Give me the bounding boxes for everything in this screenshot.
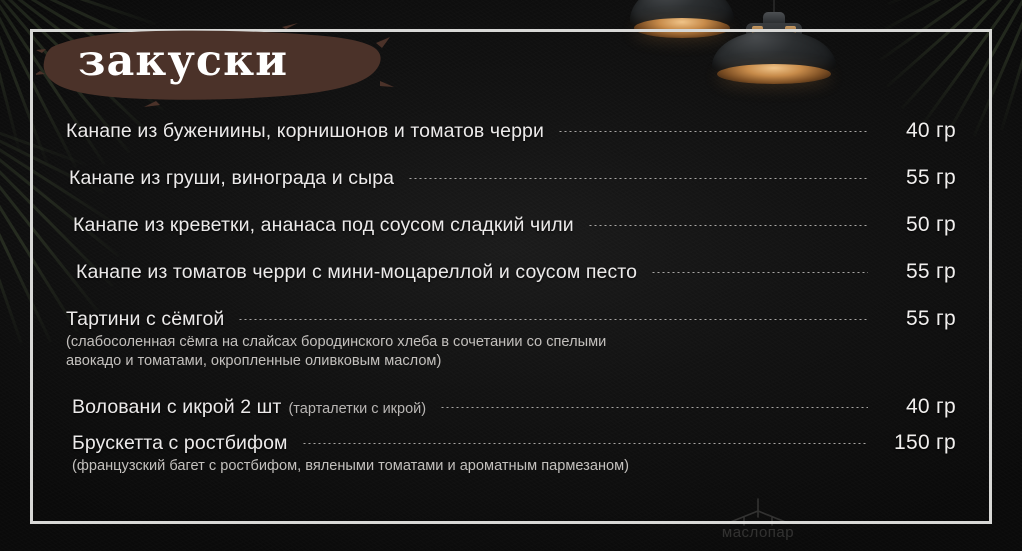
- description-line: (слабосоленная сёмга на слайсах бородинс…: [66, 333, 866, 352]
- menu-item-weight: 55 гр: [880, 307, 956, 331]
- menu-item-weight: 40 гр: [880, 395, 956, 419]
- description-line: (французский багет с ростбифом, вялеными…: [72, 457, 872, 476]
- menu-item-row: Канапе из груши, винограда и сыра 55 гр: [69, 166, 956, 190]
- menu-item-name: Тартини с сёмгой: [66, 308, 224, 331]
- menu-item-description: (слабосоленная сёмга на слайсах бородинс…: [66, 333, 866, 371]
- dotted-leader: [238, 319, 868, 320]
- menu-item: Тартини с сёмгой 55 гр (слабосоленная сё…: [66, 307, 956, 371]
- page-title-block: закуски: [36, 19, 396, 111]
- menu-page: закуски Канапе из бужениины, корнишонов …: [0, 0, 1022, 551]
- dotted-leader: [302, 443, 868, 444]
- menu-item-name: Канапе из груши, винограда и сыра: [69, 167, 394, 190]
- menu-item-name: Воловани с икрой 2 шт: [72, 396, 281, 419]
- menu-item-weight: 55 гр: [880, 260, 956, 284]
- menu-item-row: Воловани с икрой 2 шт (тарталетки с икро…: [72, 395, 956, 419]
- menu-item-name: Брускетта с ростбифом: [72, 432, 288, 455]
- lamp-rim: [717, 64, 831, 84]
- menu-item-weight: 150 гр: [880, 431, 956, 455]
- menu-item: Брускетта с ростбифом 150 гр (французски…: [66, 431, 956, 476]
- menu-item-weight: 55 гр: [880, 166, 956, 190]
- menu-item-row: Тартини с сёмгой 55 гр: [66, 307, 956, 331]
- menu-item-weight: 40 гр: [880, 119, 956, 143]
- pendant-lamp-icon: [712, 12, 836, 108]
- menu-item-row: Канапе из креветки, ананаса под соусом с…: [73, 213, 956, 237]
- dotted-leader: [440, 407, 868, 408]
- menu-item-name: Канапе из бужениины, корнишонов и томато…: [66, 120, 544, 143]
- menu-item: Канапе из груши, винограда и сыра 55 гр: [66, 166, 956, 190]
- dotted-leader: [408, 178, 868, 179]
- dotted-leader: [558, 131, 868, 132]
- menu-item: Канапе из бужениины, корнишонов и томато…: [66, 119, 956, 143]
- description-line: авокадо и томатами, окропленные оливковы…: [66, 352, 866, 371]
- menu-item-name: Канапе из креветки, ананаса под соусом с…: [73, 214, 574, 237]
- dotted-leader: [651, 272, 868, 273]
- menu-item-weight: 50 гр: [880, 213, 956, 237]
- menu-item-row: Брускетта с ростбифом 150 гр: [72, 431, 956, 455]
- menu-item: Канапе из креветки, ананаса под соусом с…: [66, 213, 956, 237]
- menu-item-row: Канапе из бужениины, корнишонов и томато…: [66, 119, 956, 143]
- menu-item-note: (тарталетки с икрой): [288, 401, 426, 417]
- menu-item: Канапе из томатов черри с мини-моцарелло…: [66, 260, 956, 284]
- menu-item: Воловани с икрой 2 шт (тарталетки с икро…: [66, 395, 956, 419]
- page-title: закуски: [78, 40, 288, 83]
- menu-item-row: Канапе из томатов черри с мини-моцарелло…: [76, 260, 956, 284]
- dotted-leader: [588, 225, 868, 226]
- menu-item-description: (французский багет с ростбифом, вялеными…: [72, 457, 872, 476]
- menu-list: Канапе из бужениины, корнишонов и томато…: [66, 119, 956, 476]
- menu-item-name: Канапе из томатов черри с мини-моцарелло…: [76, 261, 637, 284]
